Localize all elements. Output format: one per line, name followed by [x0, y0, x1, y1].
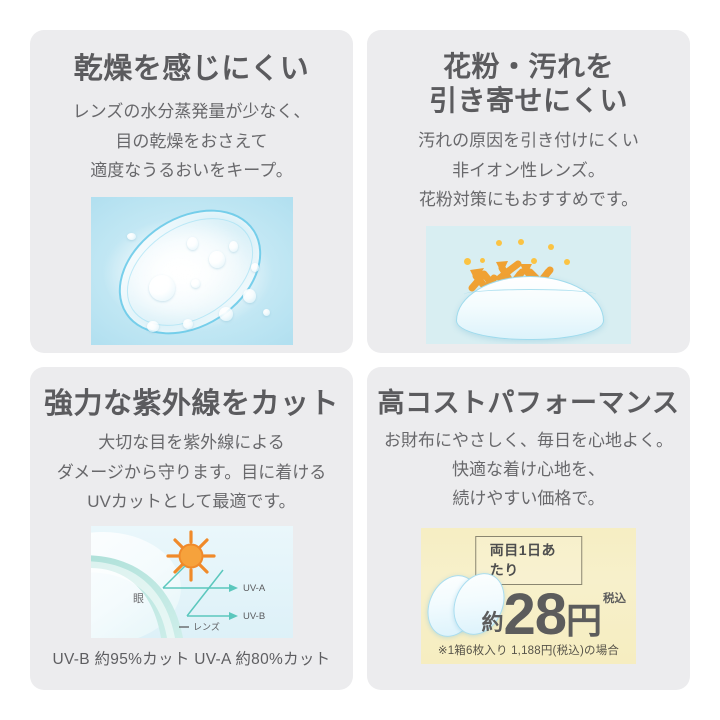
panel-uv-body-line-3: UVカットとして最適です。 — [57, 487, 326, 516]
lens-label: レンズ — [193, 621, 220, 632]
panel-pollen: 花粉・汚れを 引き寄せにくい 汚れの原因を引き付けにくい 非イオン性レンズ。 花… — [367, 30, 690, 353]
panel-pollen-title-line-1: 花粉・汚れを — [443, 51, 614, 82]
panel-uv-body-line-2: ダメージから守ります。目に着ける — [57, 458, 326, 487]
panel-dryness: 乾燥を感じにくい レンズの水分蒸発量が少なく、 目の乾燥をおさえて 適度なうるお… — [30, 30, 353, 353]
eye-label: 眼 — [133, 592, 144, 605]
water-drop-icon — [127, 233, 136, 240]
sun-icon — [168, 532, 214, 580]
panel-dryness-body: レンズの水分蒸発量が少なく、 目の乾燥をおさえて 適度なうるおいをキープ。 — [63, 97, 321, 185]
price-row: 約 28 円 税込 — [421, 570, 636, 640]
pollen-repel-image — [426, 226, 631, 344]
panel-cost-body-line-2: 快適な着け心地を、 — [384, 455, 673, 484]
panel-dryness-body-line-1: レンズの水分蒸発量が少なく、 — [73, 97, 311, 126]
water-drop-icon — [243, 289, 256, 303]
uv-a-label: UV-A — [243, 583, 266, 594]
panel-pollen-body-line-1: 汚れの原因を引き付けにくい — [418, 126, 639, 155]
panel-cost-body-line-1: お財布にやさしく、毎日を心地よく。 — [384, 426, 673, 455]
water-drop-icon — [219, 307, 233, 321]
water-drop-icon — [229, 241, 238, 252]
water-drop-icon — [209, 251, 225, 268]
panel-uv: 強力な紫外線をカット 大切な目を紫外線による ダメージから守ります。目に着ける … — [30, 367, 353, 690]
price-tax-note: 税込 — [603, 594, 626, 606]
price-callout-box: 両目1日あたり 約 28 円 税込 ※1箱6枚入り 1,188円(税込)の場合 — [421, 528, 636, 664]
panel-dryness-body-line-2: 目の乾燥をおさえて — [73, 127, 311, 156]
panel-uv-body: 大切な目を紫外線による ダメージから守ります。目に着ける UVカットとして最適で… — [47, 428, 336, 516]
panel-cost-title: 高コストパフォーマンス — [372, 387, 686, 420]
lens-droplets-image — [91, 197, 293, 345]
feature-grid: 乾燥を感じにくい レンズの水分蒸発量が少なく、 目の乾燥をおさえて 適度なうるお… — [0, 0, 720, 720]
price-approx: 約 — [481, 612, 503, 634]
water-drop-icon — [263, 309, 270, 316]
panel-pollen-body-line-2: 非イオン性レンズ。 — [418, 156, 639, 185]
water-drop-icon — [187, 237, 198, 250]
panel-uv-title: 強力な紫外線をカット — [38, 387, 345, 422]
panel-uv-body-line-1: 大切な目を紫外線による — [57, 428, 326, 457]
price-unit: 円 — [566, 603, 602, 639]
uv-cut-caption: UV-B 約95%カット UV-A 約80%カット — [53, 647, 331, 669]
price-amount: 28 — [503, 590, 566, 640]
water-drop-icon — [149, 275, 175, 301]
uv-diagram-svg: UV-A UV-B レンズ 眼 — [91, 526, 293, 638]
panel-pollen-body: 汚れの原因を引き付けにくい 非イオン性レンズ。 花粉対策にもおすすめです。 — [408, 126, 649, 214]
water-drop-icon — [251, 263, 259, 272]
uv-cut-diagram-image: UV-A UV-B レンズ 眼 — [91, 526, 293, 638]
uv-b-label: UV-B — [243, 611, 265, 622]
panel-dryness-title: 乾燥を感じにくい — [68, 52, 315, 87]
panel-cost-body: お財布にやさしく、毎日を心地よく。 快適な着け心地を、 続けやすい価格で。 — [374, 426, 683, 514]
panel-pollen-title: 花粉・汚れを 引き寄せにくい — [423, 50, 634, 118]
price-footnote: ※1箱6枚入り 1,188円(税込)の場合 — [421, 642, 636, 658]
panel-dryness-body-line-3: 適度なうるおいをキープ。 — [73, 156, 311, 185]
water-drop-icon — [147, 321, 159, 332]
water-drop-icon — [191, 279, 200, 288]
panel-cost-body-line-3: 続けやすい価格で。 — [384, 484, 673, 513]
panel-pollen-title-line-2: 引き寄せにくい — [429, 85, 628, 116]
panel-cost: 高コストパフォーマンス お財布にやさしく、毎日を心地よく。 快適な着け心地を、 … — [367, 367, 690, 690]
water-drop-icon — [183, 319, 193, 329]
panel-pollen-body-line-3: 花粉対策にもおすすめです。 — [418, 185, 639, 214]
